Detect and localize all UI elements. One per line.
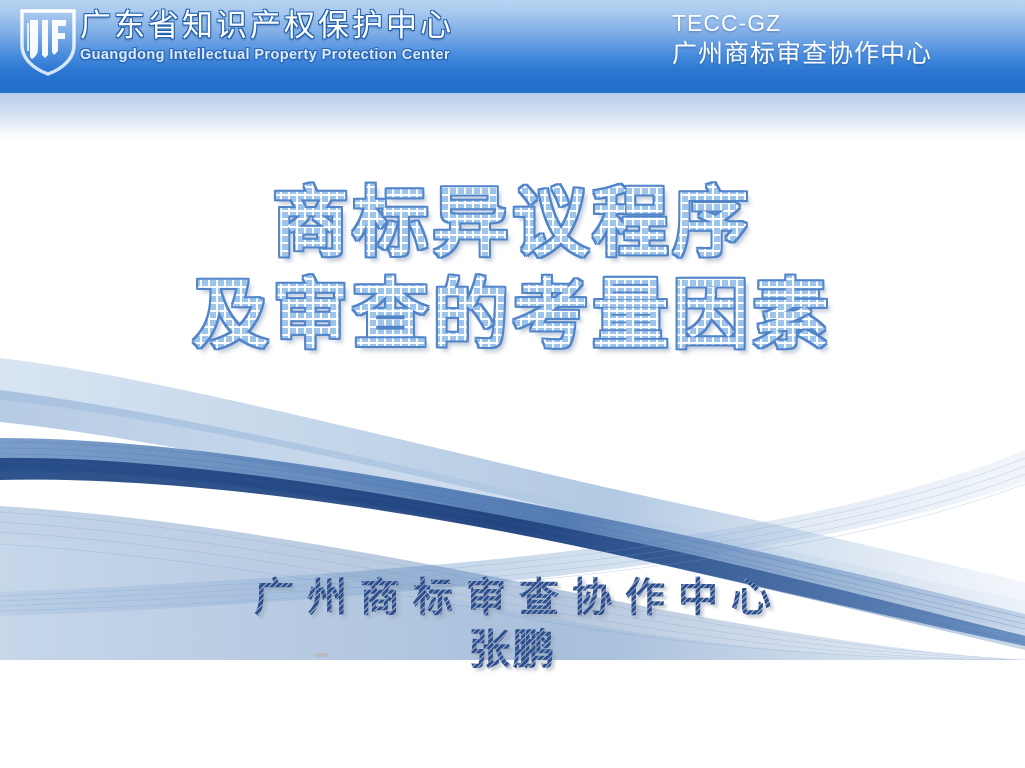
page-title: 商标异议程序 商标异议程序 及审查的考量因素 及审查的考量因素 [0, 178, 1025, 362]
presenter-organization: 广州商标审查协作中心 广州商标审查协作中心 [0, 572, 1025, 624]
presenter-organization-texture: 广州商标审查协作中心 [0, 572, 1025, 624]
brand-lockup: 广东省知识产权保护中心 Guangdong Intellectual Prope… [80, 6, 500, 64]
presenter-block: 广州商标审查协作中心 广州商标审查协作中心 张鹏 张鹏 [0, 572, 1025, 676]
brand-name-en: Guangdong Intellectual Property Protecti… [80, 46, 500, 64]
shield-emblem-icon [16, 5, 80, 77]
title-line-1: 商标异议程序 商标异议程序 [0, 178, 1025, 270]
header-underglow-gradient [0, 93, 1025, 139]
slide-header-banner: 广东省知识产权保护中心 Guangdong Intellectual Prope… [0, 0, 1025, 87]
title-line-2: 及审查的考量因素 及审查的考量因素 [0, 270, 1025, 362]
brand-name-cn: 广东省知识产权保护中心 [80, 6, 500, 46]
header-right-org: TECC-GZ 广州商标审查协作中心 [672, 8, 932, 71]
stray-dash-mark [315, 653, 329, 657]
title-line-2-texture: 及审查的考量因素 [0, 270, 1025, 362]
header-org-code: TECC-GZ [672, 8, 932, 38]
header-org-name: 广州商标审查协作中心 [672, 38, 932, 71]
presenter-name: 张鹏 张鹏 [0, 624, 1025, 676]
title-slide: 广东省知识产权保护中心 Guangdong Intellectual Prope… [0, 0, 1025, 768]
title-line-1-texture: 商标异议程序 [0, 178, 1025, 270]
presenter-name-texture: 张鹏 [0, 624, 1025, 676]
